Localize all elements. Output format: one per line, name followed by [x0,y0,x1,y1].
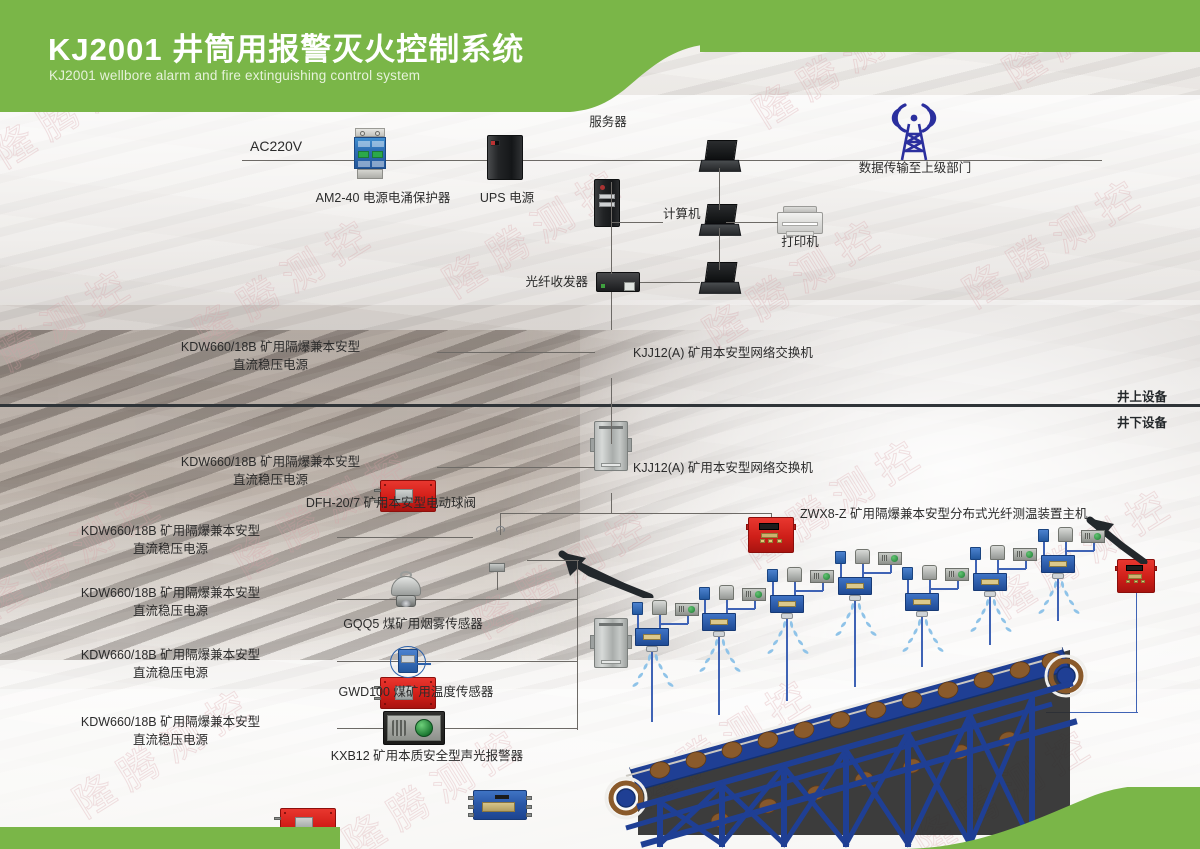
station-alarm-box-icon [810,570,834,583]
station-alarm-box-icon [1081,530,1105,543]
fiber-down-wire [611,292,612,330]
sensor-bus-riser [577,560,578,730]
server-to-computer-wire [611,222,663,223]
sensor-bus-top-wire [527,560,579,561]
label-zwx-host: ZWX8-Z 矿用隔爆兼本安型分布式光纤测温装置主机 [800,506,1088,523]
power-supply-2-line1: KDW660/18B 矿用隔爆兼本安型 [181,455,360,469]
surface-underground-divider [0,404,1200,407]
laptop-chain-wire [719,228,720,270]
station-smoke-sensor-icon [990,545,1005,560]
station-temp-sensor-icon [835,551,846,564]
station-smoke-sensor-icon [719,585,734,600]
label-ac220v: AC220V [250,138,302,155]
valve-bus-wire [500,513,612,514]
power-supply-3-line2: 直流稳压电源 [133,542,208,556]
label-sound-light-alarm: KXB12 矿用本质安全型声光报警器 [312,748,542,765]
switch-link-wire [611,378,612,444]
label-ups: UPS 电源 [470,190,544,207]
label-fiber-transceiver: 光纤收发器 [474,274,588,291]
power-supply-6-line1: KDW660/18B 矿用隔爆兼本安型 [81,715,260,729]
power-supply-upper-line1: KDW660/18B 矿用隔爆兼本安型 [181,340,360,354]
ball-valve-hook-icon [496,526,505,533]
station-alarm-box-icon [1013,548,1037,561]
label-computer: 计算机 [663,206,701,223]
switch-lower-down-wire [611,493,612,513]
laptop-chain-wire [719,168,720,210]
valve-stem-wire [497,572,498,590]
label-server: 服务器 [580,114,636,131]
label-smoke-sensor: GQQ5 煤矿用烟雾传感器 [338,616,488,633]
power-supply-2-wire [437,467,595,468]
label-underground: 井下设备 [1117,412,1167,431]
label-switch-lower: KJJ12(A) 矿用本安型网络交换机 [633,460,813,477]
station-temp-sensor-icon [699,587,710,600]
power-supply-4-line2: 直流稳压电源 [133,604,208,618]
fiber-to-laptop-wire [640,282,700,283]
ups-icon [487,135,523,180]
antenna-icon [885,100,943,162]
station-smoke-sensor-icon [1058,527,1073,542]
server-icon [594,179,620,227]
zwx-host-icon-right [1117,559,1155,593]
power-supply-4-wire [337,599,577,600]
station-control-box-icon [770,595,804,613]
power-supply-6-wire [337,728,577,729]
station-temp-sensor-icon [767,569,778,582]
smoke-sensor-icon [385,571,427,611]
power-supply-6-line2: 直流稳压电源 [133,733,208,747]
footer-shape [0,787,1200,849]
label-switch-upper: KJJ12(A) 矿用本安型网络交换机 [633,345,813,362]
label-printer: 打印机 [768,234,832,251]
switch-to-zwx-wire [611,513,771,514]
station-temp-sensor-icon [902,567,913,580]
power-supply-upper-line2: 直流稳压电源 [233,358,308,372]
page-title: KJ2001 井筒用报警灭火控制系统 [48,24,524,69]
station-smoke-sensor-icon [922,565,937,580]
power-supply-3-line1: KDW660/18B 矿用隔爆兼本安型 [81,524,260,538]
label-surge-protector: AM2-40 电源电涌保护器 [308,190,458,207]
zwx-host-icon [748,517,794,553]
label-ball-valve: DFH-20/7 矿用本安型电动球阀 [280,495,476,512]
page-footer [0,787,1200,849]
power-supply-5-line1: KDW660/18B 矿用隔爆兼本安型 [81,648,260,662]
power-supply-5-wire [337,661,577,662]
station-smoke-sensor-icon [855,549,870,564]
pointer-arrow-left [556,546,654,598]
label-power-supply-upper: KDW660/18B 矿用隔爆兼本安型 直流稳压电源 [168,338,373,374]
station-control-box-icon [905,593,939,611]
label-power-supply-3: KDW660/18B 矿用隔爆兼本安型 直流稳压电源 [68,522,273,558]
label-uplink: 数据传输至上级部门 [852,160,978,177]
temperature-sensor-icon [390,643,432,683]
station-control-box-icon [1041,555,1075,573]
station-control-box-icon [838,577,872,595]
label-power-supply-6: KDW660/18B 矿用隔爆兼本安型 直流稳压电源 [68,713,273,749]
station-alarm-box-icon [945,568,969,581]
label-above-ground: 井上设备 [1117,386,1167,405]
power-supply-2-line2: 直流稳压电源 [233,473,308,487]
power-supply-4-line1: KDW660/18B 矿用隔爆兼本安型 [81,586,260,600]
power-supply-3-wire [337,537,473,538]
ball-valve-actuator-icon [489,563,505,572]
label-power-supply-4: KDW660/18B 矿用隔爆兼本安型 直流稳压电源 [68,584,273,620]
station-smoke-sensor-icon [787,567,802,582]
zwx-right-fiber-wire [1136,593,1137,713]
station-water-spray [1036,579,1082,619]
station-temp-sensor-icon [1038,529,1049,542]
page-header: KJ2001 井筒用报警灭火控制系统 KJ2001 wellbore alarm… [0,0,1200,110]
power-supply-upper-wire [437,352,595,353]
station-temp-sensor-icon [632,602,643,615]
page-subtitle: KJ2001 wellbore alarm and fire extinguis… [49,68,420,83]
label-power-supply-5: KDW660/18B 矿用隔爆兼本安型 直流稳压电源 [68,646,273,682]
server-down-wire [611,182,612,274]
label-temperature-sensor: GWD100 煤矿用温度传感器 [336,684,496,701]
power-supply-5-line2: 直流稳压电源 [133,666,208,680]
printer-wire [726,222,778,223]
station-alarm-box-icon [742,588,766,601]
station-smoke-sensor-icon [652,600,667,615]
surge-protector-icon [352,128,390,180]
station-alarm-box-icon [675,603,699,616]
label-power-supply-2: KDW660/18B 矿用隔爆兼本安型 直流稳压电源 [168,453,373,489]
station-temp-sensor-icon [970,547,981,560]
diagram-canvas: 隆腾测控 隆腾测控 隆腾测控 隆腾测控 隆腾测控 隆腾测控 隆腾测控 隆腾测控 … [0,0,1200,849]
station-alarm-box-icon [878,552,902,565]
station-control-box-icon [973,573,1007,591]
